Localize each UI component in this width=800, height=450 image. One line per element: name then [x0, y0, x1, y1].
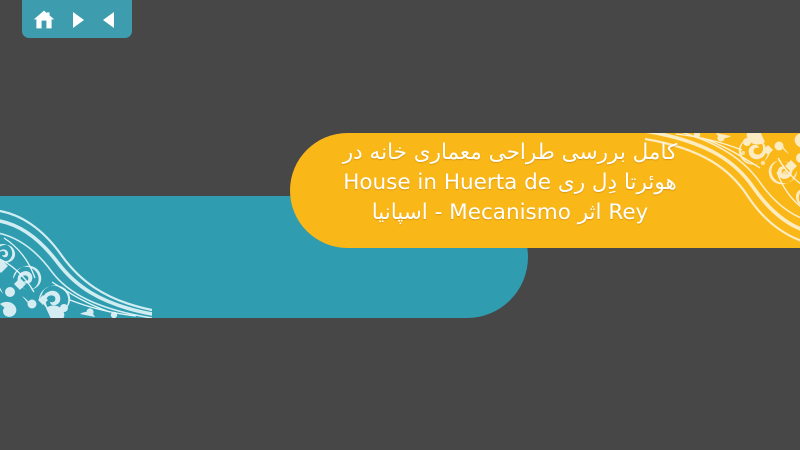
forward-button[interactable]	[64, 7, 90, 33]
arabesque-ornament-bottom-left	[0, 208, 152, 318]
home-icon	[32, 8, 56, 32]
back-arrow-icon	[99, 9, 121, 31]
slide-title-line-1: کامل بررسی طراحی معماری خانه در	[300, 138, 720, 168]
back-button[interactable]	[97, 7, 123, 33]
slide-title: کامل بررسی طراحی معماری خانه در هوئرتا د…	[300, 138, 720, 228]
navigation-toolbar	[22, 0, 132, 38]
presentation-slide: کامل بررسی طراحی معماری خانه در هوئرتا د…	[0, 0, 800, 450]
home-button[interactable]	[31, 7, 57, 33]
slide-title-line-2: هوئرتا دِل ری House in Huerta de	[300, 168, 720, 198]
forward-arrow-icon	[66, 9, 88, 31]
slide-title-line-3: Rey اثر Mecanismo - اسپانیا	[300, 198, 720, 228]
